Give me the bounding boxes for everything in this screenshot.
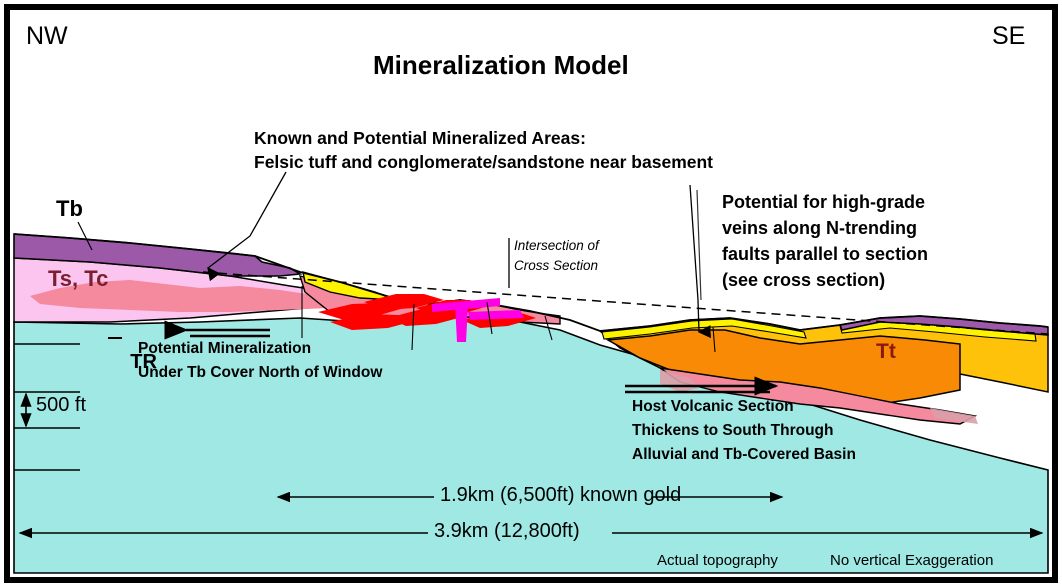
orientation-label-se: SE (992, 22, 1025, 52)
annotation-known-potential-line1: Known and Potential Mineralized Areas: (254, 128, 586, 149)
annotation-known-potential-line2: Felsic tuff and conglomerate/sandstone n… (254, 152, 713, 173)
annotation-high-grade-line1: Potential for high-grade (722, 192, 925, 213)
triassic-bar (108, 337, 122, 339)
annotation-high-grade-line2: veins along N-trending (722, 218, 917, 239)
annotation-host-volcanic-line2: Thickens to South Through (632, 422, 834, 440)
exaggeration-note: No vertical Exaggeration (830, 552, 993, 570)
annotation-high-grade-line3: faults parallel to section (722, 244, 928, 265)
unit-label-triassic: TR (108, 327, 1062, 421)
annotation-high-grade-line4: (see cross section) (722, 270, 885, 291)
mineralization-model-figure: NW SE Mineralization Model Known and Pot… (0, 0, 1062, 587)
annotation-intersection-line1: Intersection of (514, 238, 599, 254)
page-title: Mineralization Model (373, 50, 629, 81)
unit-label-tb: Tb (56, 196, 83, 222)
known-gold-scale-label: 1.9km (6,500ft) known gold (440, 484, 681, 508)
topography-note: Actual topography (657, 552, 778, 570)
annotation-intersection-line2: Cross Section (514, 258, 598, 274)
triassic-symbol-text: TR (130, 351, 157, 373)
annotation-host-volcanic-line3: Alluvial and Tb-Covered Basin (632, 446, 856, 464)
orientation-label-nw: NW (26, 22, 68, 52)
unit-label-ts-tc: Ts, Tc (48, 266, 108, 292)
total-length-scale-label: 3.9km (12,800ft) (434, 520, 580, 544)
vertical-scale-label: 500 ft (36, 394, 86, 418)
